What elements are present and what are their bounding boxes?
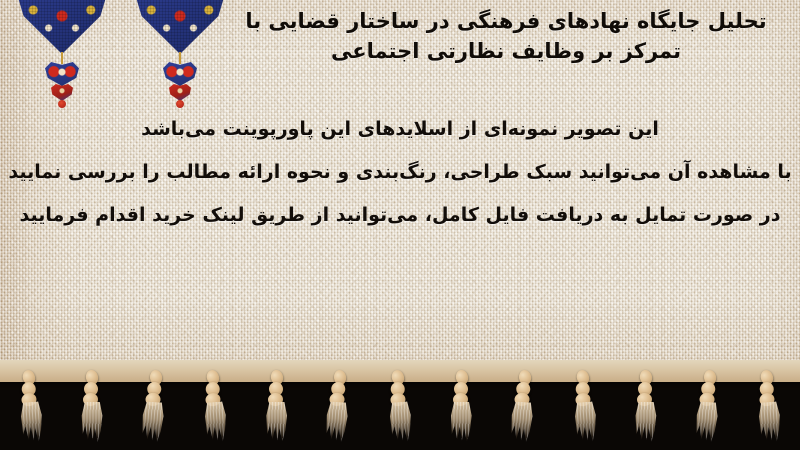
slide-canvas: تحلیل جایگاه نهادهای فرهنگی در ساختار قض… bbox=[0, 0, 800, 450]
tassel-threads bbox=[694, 401, 719, 442]
medallion-body bbox=[132, 0, 228, 54]
medallion-pendant-large bbox=[45, 62, 79, 86]
tassel-threads bbox=[81, 402, 103, 442]
medallion-pendant-dot bbox=[58, 100, 66, 108]
tassel-threads bbox=[510, 401, 535, 442]
tassel-threads bbox=[451, 402, 473, 442]
carpet-fringe-tassels bbox=[0, 360, 800, 450]
fringe-tassel bbox=[633, 368, 659, 446]
medallion-pendant-small bbox=[169, 84, 191, 101]
body-line: این تصویر نمونه‌ای از اسلایدهای این پاور… bbox=[0, 108, 800, 151]
fringe-tassel bbox=[384, 367, 415, 447]
medallion-pendant-dot bbox=[176, 100, 184, 108]
tassel-threads bbox=[140, 401, 165, 442]
tassel-threads bbox=[635, 402, 657, 442]
medallion-stem bbox=[179, 52, 181, 64]
medallion-pendant-small bbox=[51, 84, 73, 101]
tassel-threads bbox=[758, 401, 783, 442]
fringe-tassel bbox=[79, 368, 105, 446]
medallion-body bbox=[14, 0, 110, 54]
slide-body: این تصویر نمونه‌ای از اسلایدهای این پاور… bbox=[0, 108, 800, 237]
fringe-tassel bbox=[15, 367, 46, 447]
tassel-threads bbox=[325, 401, 350, 442]
body-line: در صورت تمایل به دریافت فایل کامل، می‌تو… bbox=[0, 194, 800, 237]
medallion-stem bbox=[61, 52, 63, 64]
tassel-threads bbox=[573, 401, 598, 442]
tassel-threads bbox=[266, 402, 288, 442]
fringe-tassel bbox=[323, 367, 354, 447]
tassel-threads bbox=[389, 401, 414, 442]
fringe-tassel bbox=[569, 367, 600, 447]
persian-medallion-ornament-icon bbox=[14, 0, 110, 104]
fringe-tassel bbox=[264, 368, 290, 446]
tassel-threads bbox=[204, 401, 229, 442]
fringe-tassel bbox=[507, 367, 538, 447]
medallion-pendant-large bbox=[163, 62, 197, 86]
fringe-tassel bbox=[138, 367, 169, 447]
persian-medallion-ornament-icon bbox=[132, 0, 228, 104]
tassel-threads bbox=[19, 401, 44, 442]
fringe-tassel bbox=[692, 367, 723, 447]
fringe-tassel bbox=[449, 368, 475, 446]
body-line: با مشاهده آن می‌توانید سبک طراحی، رنگ‌بن… bbox=[0, 151, 800, 194]
slide-title: تحلیل جایگاه نهادهای فرهنگی در ساختار قض… bbox=[226, 6, 786, 66]
